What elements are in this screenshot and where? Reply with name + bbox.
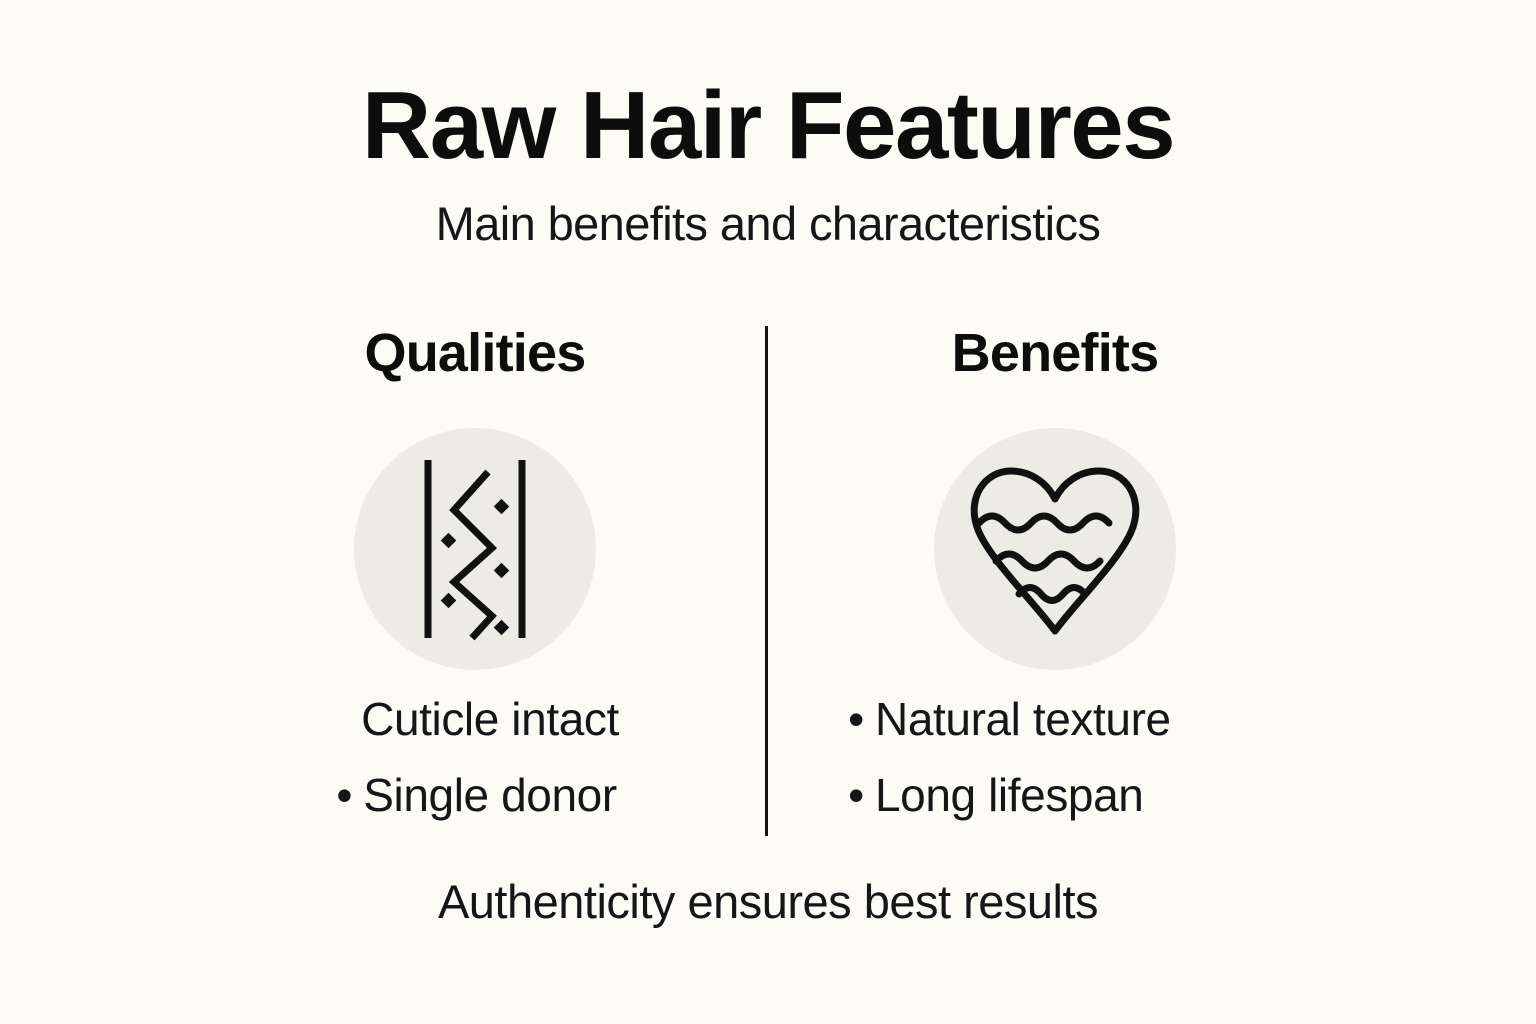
icon-circle-benefits: [934, 428, 1176, 670]
column-heading-qualities: Qualities: [215, 326, 735, 380]
icon-circle-qualities: [354, 428, 596, 670]
column-heading-benefits: Benefits: [795, 326, 1315, 380]
column-qualities: Qualities: [215, 326, 735, 380]
bullet-list-benefits: • Natural texture • Long lifespan: [795, 696, 1315, 848]
bullet-list-qualities: Cuticle intact • Single donor: [215, 696, 735, 848]
columns-section: Qualities: [0, 326, 1536, 838]
column-benefits: Benefits •: [795, 326, 1315, 380]
hair-strand-cuticle-icon: [410, 456, 540, 642]
list-item: • Single donor: [215, 772, 735, 848]
list-item-label: Long lifespan: [867, 772, 1143, 818]
list-item-label: Cuticle intact: [353, 696, 619, 742]
page-title: Raw Hair Features: [0, 78, 1536, 174]
footer-tagline: Authenticity ensures best results: [0, 878, 1536, 925]
bullet-marker: •: [333, 772, 355, 818]
list-item-label: Single donor: [355, 772, 617, 818]
list-item: Cuticle intact: [215, 696, 735, 772]
bullet-marker: •: [845, 772, 867, 818]
column-divider: [765, 326, 768, 836]
list-item-label: Natural texture: [867, 696, 1171, 742]
bullet-marker: •: [845, 696, 867, 742]
footer: Authenticity ensures best results: [0, 878, 1536, 925]
icon-wrap-qualities: [215, 428, 735, 670]
icon-wrap-benefits: [795, 428, 1315, 670]
heart-wave-icon: [965, 461, 1145, 637]
infographic-poster: Raw Hair Features Main benefits and char…: [0, 0, 1536, 1024]
list-item: • Long lifespan: [795, 772, 1315, 848]
page-subtitle: Main benefits and characteristics: [0, 200, 1536, 247]
list-item: • Natural texture: [795, 696, 1315, 772]
header: Raw Hair Features Main benefits and char…: [0, 78, 1536, 247]
